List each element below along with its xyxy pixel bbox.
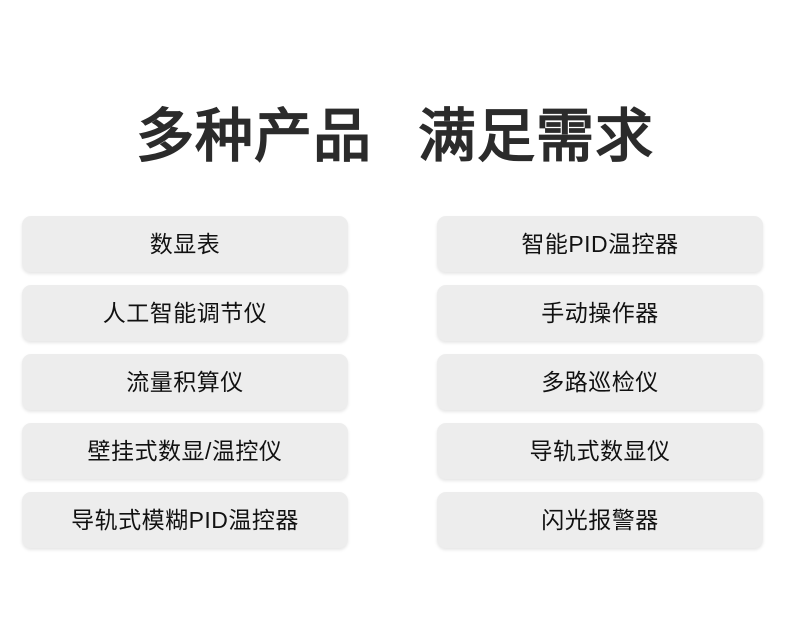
category-button-label: 导轨式模糊PID温控器	[71, 509, 299, 532]
category-button-din-rail-fuzzy-pid-controller[interactable]: 导轨式模糊PID温控器	[22, 492, 348, 548]
category-button-shuxianbiao[interactable]: 数显表	[22, 216, 348, 272]
page-title: 多种产品满足需求	[0, 62, 790, 212]
category-button-din-rail-digital-display[interactable]: 导轨式数显仪	[437, 423, 763, 479]
category-button-label: 智能PID温控器	[521, 233, 678, 256]
category-column-left: 数显表 人工智能调节仪 流量积算仪 壁挂式数显/温控仪 导轨式模糊PID温控器	[22, 216, 348, 548]
category-button-grid: 数显表 人工智能调节仪 流量积算仪 壁挂式数显/温控仪 导轨式模糊PID温控器 …	[22, 216, 763, 548]
category-button-label: 闪光报警器	[541, 509, 659, 532]
category-button-multi-channel-scanner[interactable]: 多路巡检仪	[437, 354, 763, 410]
category-button-label: 手动操作器	[541, 302, 659, 325]
category-button-label: 数显表	[150, 233, 221, 256]
page-title-part-2: 满足需求	[418, 104, 654, 169]
category-button-label: 流量积算仪	[126, 371, 244, 394]
page-title-text: 多种产品满足需求	[136, 101, 654, 173]
category-button-label: 壁挂式数显/温控仪	[88, 440, 283, 463]
category-column-right: 智能PID温控器 手动操作器 多路巡检仪 导轨式数显仪 闪光报警器	[437, 216, 763, 548]
category-button-manual-operator[interactable]: 手动操作器	[437, 285, 763, 341]
category-button-label: 人工智能调节仪	[103, 302, 268, 325]
category-button-ai-regulator[interactable]: 人工智能调节仪	[22, 285, 348, 341]
category-button-flow-totalizer[interactable]: 流量积算仪	[22, 354, 348, 410]
category-button-label: 多路巡检仪	[541, 371, 659, 394]
page-title-part-1: 多种产品	[136, 104, 372, 169]
category-button-wall-mounted-display-controller[interactable]: 壁挂式数显/温控仪	[22, 423, 348, 479]
category-button-label: 导轨式数显仪	[530, 440, 671, 463]
category-button-flash-alarm[interactable]: 闪光报警器	[437, 492, 763, 548]
category-button-smart-pid-controller[interactable]: 智能PID温控器	[437, 216, 763, 272]
product-category-page: 多种产品满足需求 数显表 人工智能调节仪 流量积算仪 壁挂式数显/温控仪 导轨式…	[0, 0, 790, 626]
